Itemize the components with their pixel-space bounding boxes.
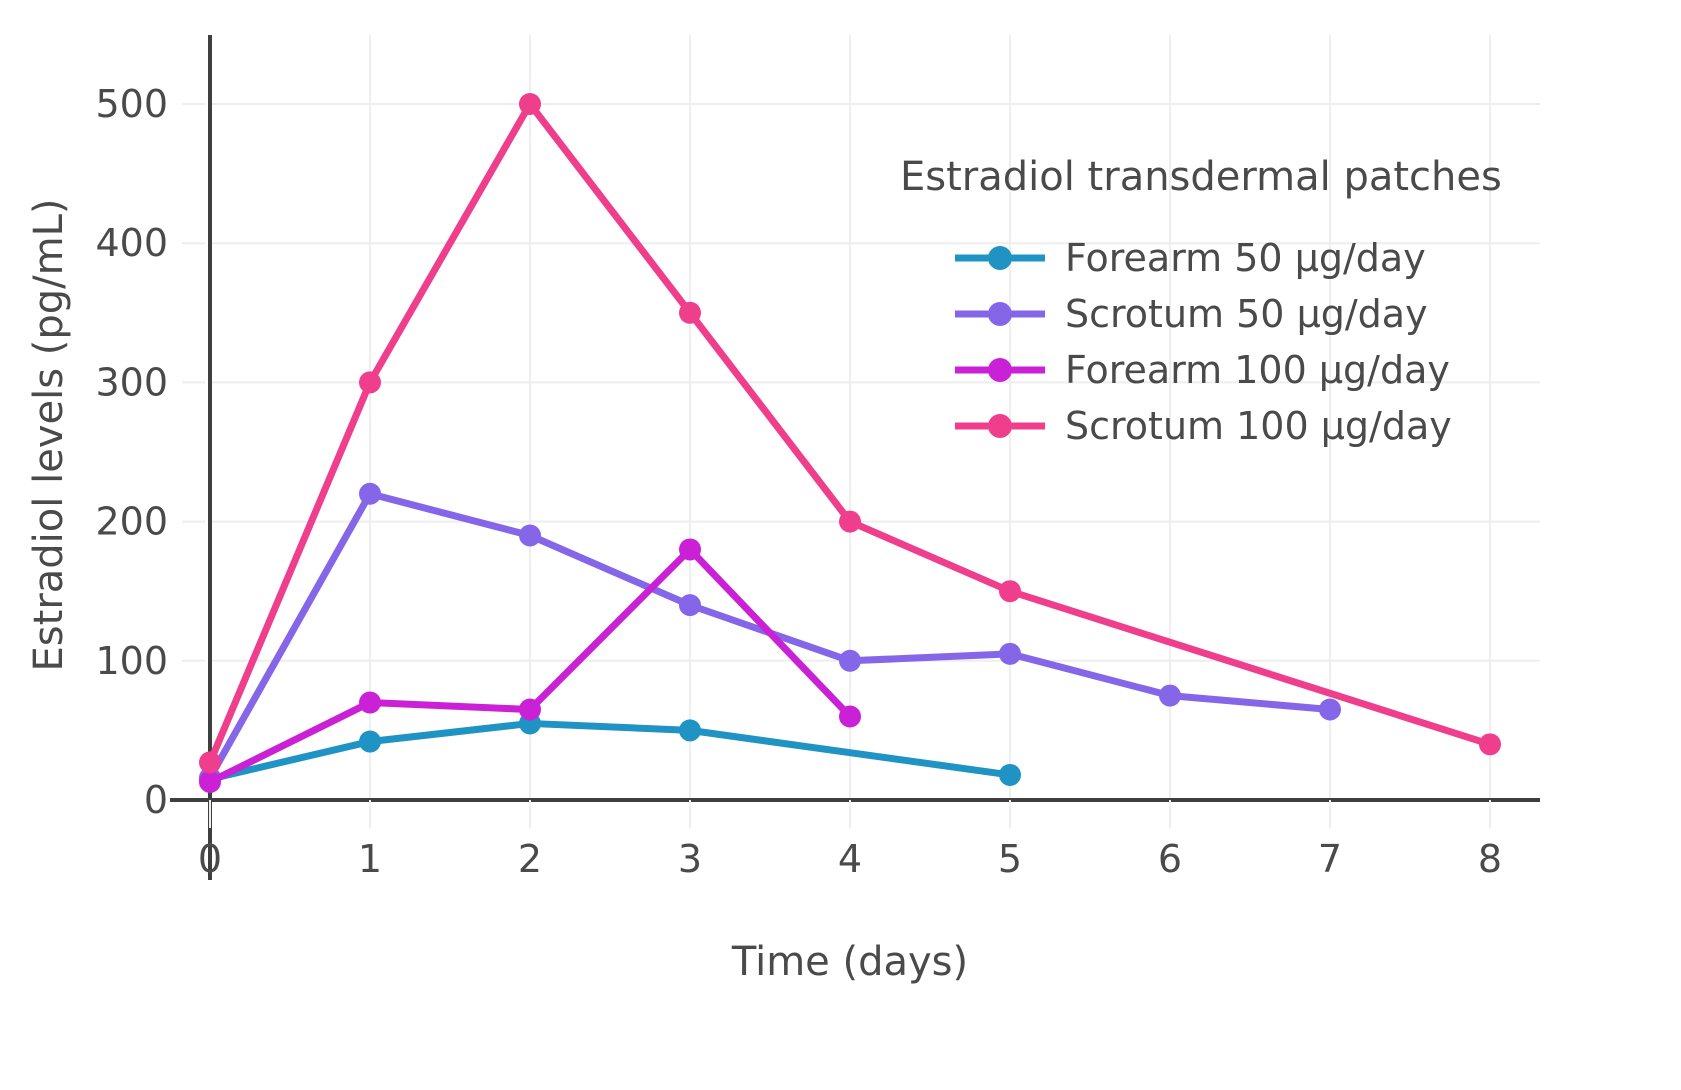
data-point <box>1159 685 1181 707</box>
data-point <box>679 594 701 616</box>
x-tick-label: 2 <box>518 837 542 881</box>
data-point <box>679 538 701 560</box>
y-tick-label: 200 <box>95 500 168 544</box>
y-tick-label: 400 <box>95 221 168 265</box>
x-axis-title: Time (days) <box>731 939 968 985</box>
legend-label: Forearm 50 µg/day <box>1065 236 1426 280</box>
x-tick-label: 6 <box>1158 837 1182 881</box>
legend-label: Forearm 100 µg/day <box>1065 348 1450 392</box>
legend-swatch-marker <box>988 358 1012 382</box>
data-point <box>839 705 861 727</box>
line-chart: 0100200300400500 012345678 Estradiol lev… <box>0 0 1681 1090</box>
data-point <box>999 580 1021 602</box>
x-tick-label: 3 <box>678 837 702 881</box>
data-point <box>199 751 221 773</box>
x-tick-label: 8 <box>1478 837 1502 881</box>
y-tick-label: 100 <box>95 639 168 683</box>
data-point <box>1479 733 1501 755</box>
legend-swatch-marker <box>988 302 1012 326</box>
x-tick-label: 5 <box>998 837 1022 881</box>
legend-item-3[interactable]: Scrotum 100 µg/day <box>955 404 1452 448</box>
data-point <box>519 525 541 547</box>
y-axis-tick-marks <box>182 104 205 661</box>
legend-swatch-marker <box>988 414 1012 438</box>
x-axis-tick-marks <box>210 800 1490 828</box>
x-tick-label: 0 <box>198 837 222 881</box>
legend-label: Scrotum 50 µg/day <box>1065 292 1428 336</box>
legend-item-2[interactable]: Forearm 100 µg/day <box>955 348 1450 392</box>
data-point <box>199 771 221 793</box>
legend-swatch-marker <box>988 246 1012 270</box>
legend: Estradiol transdermal patches Forearm 50… <box>900 154 1502 448</box>
data-point <box>679 302 701 324</box>
chart-container: 0100200300400500 012345678 Estradiol lev… <box>0 0 1681 1090</box>
data-point <box>359 692 381 714</box>
legend-item-1[interactable]: Scrotum 50 µg/day <box>955 292 1428 336</box>
data-point <box>679 719 701 741</box>
y-tick-label: 500 <box>95 82 168 126</box>
data-point <box>839 650 861 672</box>
y-tick-label: 300 <box>95 360 168 404</box>
legend-label: Scrotum 100 µg/day <box>1065 404 1452 448</box>
legend-title: Estradiol transdermal patches <box>900 154 1502 200</box>
data-point <box>359 731 381 753</box>
data-point <box>359 371 381 393</box>
x-tick-label: 4 <box>838 837 862 881</box>
data-point <box>999 643 1021 665</box>
legend-entries: Forearm 50 µg/dayScrotum 50 µg/dayForear… <box>955 236 1452 448</box>
x-tick-label: 1 <box>358 837 382 881</box>
x-tick-label: 7 <box>1318 837 1342 881</box>
data-point <box>359 483 381 505</box>
data-point <box>519 93 541 115</box>
x-axis-tick-labels: 012345678 <box>198 837 1502 881</box>
y-tick-label: 0 <box>144 778 168 822</box>
series-line <box>210 723 1010 779</box>
data-point <box>999 764 1021 786</box>
data-point <box>519 699 541 721</box>
y-axis-tick-labels: 0100200300400500 <box>95 82 168 822</box>
data-point <box>839 511 861 533</box>
data-point <box>1319 699 1341 721</box>
y-axis-title: Estradiol levels (pg/mL) <box>26 199 72 672</box>
